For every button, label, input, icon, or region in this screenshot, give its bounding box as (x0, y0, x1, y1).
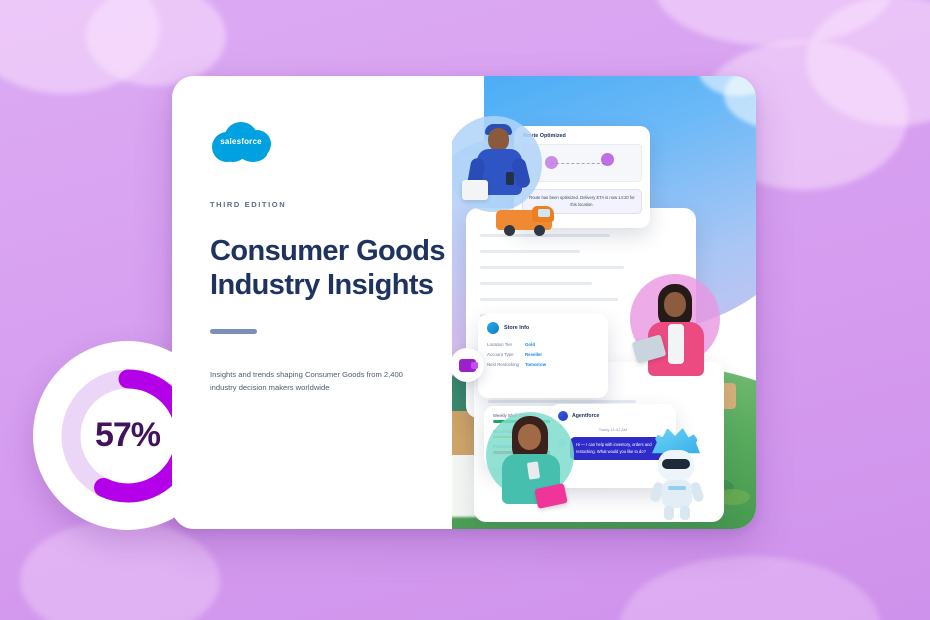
edition-label: THIRD EDITION (210, 200, 452, 209)
delivery-van-illustration (496, 204, 556, 238)
package-icon (462, 180, 488, 200)
store-row-value[interactable]: Gold (525, 342, 535, 347)
store-info-row: Account Type Reseller (487, 352, 599, 357)
salesforce-wordmark: salesforce (210, 137, 272, 146)
background-cloud (20, 520, 220, 620)
salesforce-cloud-logo: salesforce (210, 120, 272, 164)
report-cover-card[interactable]: salesforce THIRD EDITION Consumer Goods … (172, 76, 756, 529)
store-row-value[interactable]: Reseller (525, 352, 542, 357)
store-row-value[interactable]: Tomorrow (525, 362, 546, 367)
tablet-person-illustration (626, 272, 722, 390)
report-subtitle: Insights and trends shaping Consumer Goo… (210, 368, 420, 395)
title-divider (210, 329, 257, 334)
store-row-label: Account Type (487, 352, 519, 357)
store-panel-title: Store Info (504, 325, 529, 331)
astro-robot-illustration (644, 428, 710, 520)
store-info-panel[interactable]: Store Info Location Tier Gold Account Ty… (478, 314, 608, 398)
background-cloud (620, 556, 880, 620)
wallet-icon (459, 359, 476, 372)
illustration-panel: Route Optimized Route has been optimized… (430, 76, 756, 529)
store-info-row: Location Tier Gold (487, 342, 599, 347)
store-info-row: Next Restocking Tomorrow (487, 362, 599, 367)
report-text-column: salesforce THIRD EDITION Consumer Goods … (172, 76, 452, 529)
wallet-badge[interactable] (450, 348, 484, 382)
title-line-1: Consumer Goods (210, 235, 445, 267)
phone-person-illustration (484, 408, 578, 512)
phone-icon (527, 461, 540, 479)
page-title: Consumer Goods Industry Insights (210, 235, 452, 303)
map-pin-icon[interactable] (545, 156, 558, 169)
route-line (551, 163, 605, 173)
store-row-label: Location Tier (487, 342, 519, 347)
store-avatar (487, 322, 499, 334)
sky-cloud (698, 76, 756, 96)
store-row-label: Next Restocking (487, 362, 519, 367)
map-pin-icon[interactable] (601, 153, 614, 166)
sunglasses-icon (662, 459, 690, 469)
title-line-2: Industry Insights (210, 269, 452, 303)
phone-icon (506, 172, 514, 185)
